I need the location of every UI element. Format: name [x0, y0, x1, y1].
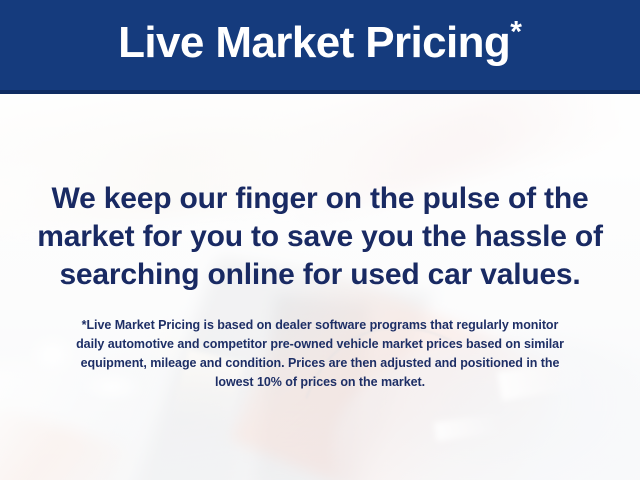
- banner-title-asterisk: *: [510, 15, 522, 48]
- header-banner: Live Market Pricing*: [0, 0, 640, 90]
- disclaimer-line-3: equipment, mileage and condition. Prices…: [26, 354, 614, 373]
- banner-title-text: Live Market Pricing: [118, 18, 510, 67]
- live-market-pricing-card: Live Market Pricing* We keep our finger …: [0, 0, 640, 480]
- disclaimer-text: *Live Market Pricing is based on dealer …: [0, 316, 640, 392]
- disclaimer-line-2: daily automotive and competitor pre-owne…: [26, 335, 614, 354]
- headline-line-2: market for you to save you the hassle of: [22, 218, 618, 256]
- headline: We keep our finger on the pulse of the m…: [0, 180, 640, 294]
- headline-line-1: We keep our finger on the pulse of the: [22, 180, 618, 218]
- disclaimer-line-4: lowest 10% of prices on the market.: [26, 373, 614, 392]
- content-area: We keep our finger on the pulse of the m…: [0, 94, 640, 480]
- banner-title: Live Market Pricing*: [118, 21, 522, 65]
- headline-line-3: searching online for used car values.: [22, 256, 618, 294]
- disclaimer-line-1: *Live Market Pricing is based on dealer …: [26, 316, 614, 335]
